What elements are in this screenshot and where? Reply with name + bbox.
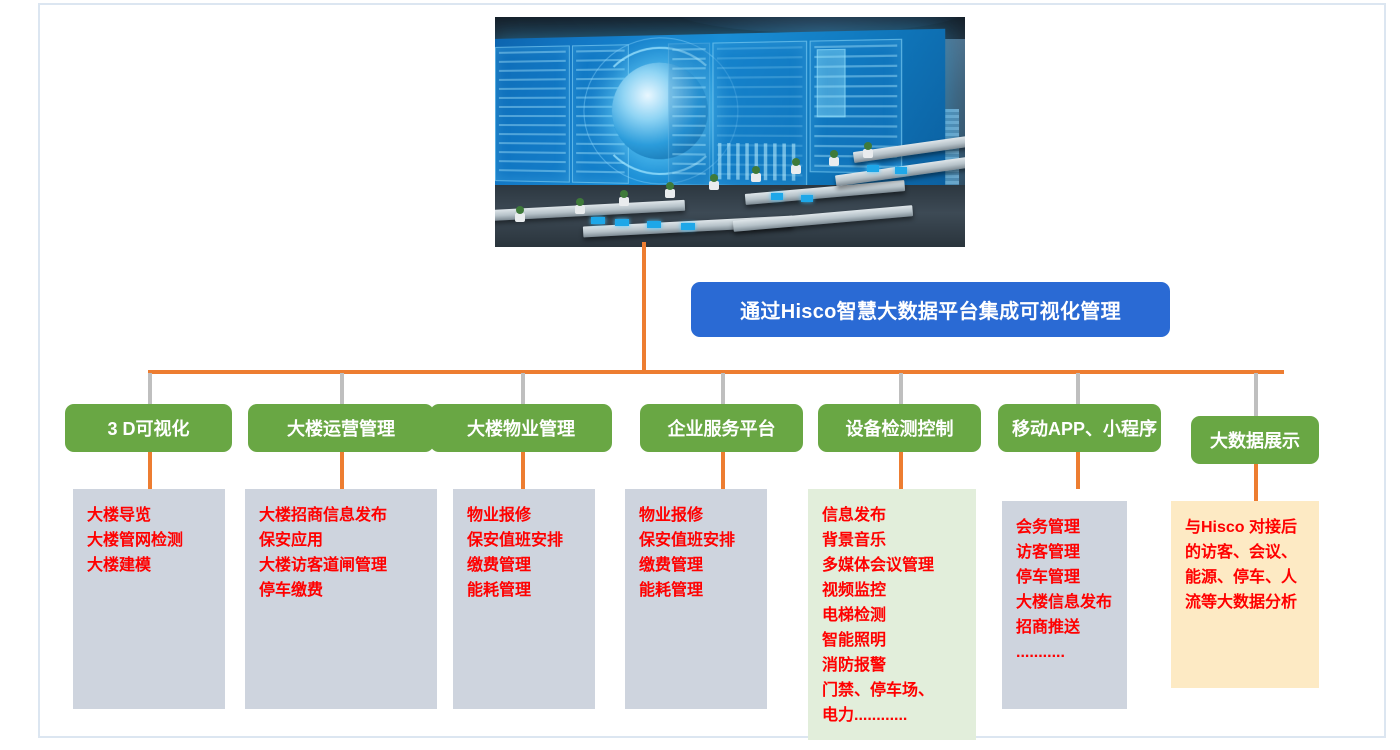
hero-plant [665,189,675,198]
panel-item: 保安应用 [259,528,437,553]
panel-item: 大楼信息发布 [1016,590,1127,615]
hero-plant [515,213,525,222]
chip-label: 大楼运营管理 [287,415,395,441]
panel-enterprise-service: 物业报修 保安值班安排 缴费管理 能耗管理 [625,489,767,709]
panel-item: 停车缴费 [259,578,437,603]
panel-item: 电力............ [822,703,976,728]
chip-label: 设备检测控制 [846,415,954,441]
panel-item: 会务管理 [1016,515,1127,540]
panel-item: 流等大数据分析 [1185,590,1319,615]
hero-screen-panel [817,49,846,118]
main-banner[interactable]: 通过Hisco智慧大数据平台集成可视化管理 [691,282,1170,337]
connector-chip-to-panel-6 [1254,461,1258,501]
connector-chip-to-panel-5 [1076,449,1080,489]
panel-device-control: 信息发布 背景音乐 多媒体会议管理 视频监控 电梯检测 智能照明 消防报警 门禁… [808,489,976,740]
hero-plant [863,149,873,158]
category-chip-3d-visualization[interactable]: 3 D可视化 [65,404,232,452]
control-room-photo [495,17,965,247]
panel-property-management: 物业报修 保安值班安排 缴费管理 能耗管理 [453,489,595,709]
hero-plant [619,197,629,206]
panel-item: 门禁、停车场、 [822,678,976,703]
panel-item: 大楼管网检测 [87,528,225,553]
connector-chip-to-panel-2 [521,449,525,489]
panel-item: 大楼招商信息发布 [259,503,437,528]
hero-plant [709,181,719,190]
category-chip-mobile-app[interactable]: 移动APP、小程序 [998,404,1161,452]
panel-item: 大楼导览 [87,503,225,528]
main-banner-label: 通过Hisco智慧大数据平台集成可视化管理 [740,295,1121,324]
chip-label: 企业服务平台 [668,415,776,441]
panel-item: 大楼访客道闸管理 [259,553,437,578]
panel-item: 大楼建模 [87,553,225,578]
connector-chip-to-panel-3 [721,449,725,489]
category-chip-device-control[interactable]: 设备检测控制 [818,404,981,452]
chip-label: 移动APP、小程序 [1012,415,1157,441]
panel-item: 保安值班安排 [639,528,767,553]
panel-item: 缴费管理 [639,553,767,578]
hero-monitor [591,217,605,224]
panel-item: 访客管理 [1016,540,1127,565]
panel-item: 与Hisco 对接后 [1185,515,1319,540]
panel-building-operation: 大楼招商信息发布 保安应用 大楼访客道闸管理 停车缴费 [245,489,437,709]
panel-bigdata-display: 与Hisco 对接后 的访客、会议、 能源、停车、人 流等大数据分析 [1171,501,1319,688]
hero-monitor [615,219,629,226]
hero-monitor [771,193,783,200]
hero-plant [829,157,839,166]
panel-item: 停车管理 [1016,565,1127,590]
panel-item: 能源、停车、人 [1185,565,1319,590]
panel-item: 保安值班安排 [467,528,595,553]
panel-item: 能耗管理 [639,578,767,603]
panel-item: 消防报警 [822,653,976,678]
panel-3d-visualization: 大楼导览 大楼管网检测 大楼建模 [73,489,225,709]
hero-plant [751,173,761,182]
panel-item: 的访客、会议、 [1185,540,1319,565]
panel-mobile-app: 会务管理 访客管理 停车管理 大楼信息发布 招商推送 ........... [1002,501,1127,709]
panel-item: 电梯检测 [822,603,976,628]
connector-chip-to-panel-0 [148,449,152,489]
hero-screen-panel [495,45,570,182]
panel-item: 背景音乐 [822,528,976,553]
hero-monitor [647,221,661,228]
connector-chip-to-panel-4 [899,449,903,489]
connector-chip-to-panel-1 [340,449,344,489]
chip-label: 3 D可视化 [107,415,189,441]
connector-horizontal-bus [148,370,1284,374]
panel-item: 招商推送 [1016,615,1127,640]
hero-screen-panel [668,43,710,186]
panel-item: ........... [1016,640,1127,665]
hero-monitor [867,165,879,172]
category-chip-building-operation[interactable]: 大楼运营管理 [248,404,434,452]
chip-label: 大数据展示 [1210,427,1300,453]
connector-drop-6 [1254,373,1258,421]
hero-plant [791,165,801,174]
hero-monitor [895,167,907,174]
hero-plant [575,205,585,214]
panel-item: 视频监控 [822,578,976,603]
category-chip-bigdata-display[interactable]: 大数据展示 [1191,416,1319,464]
panel-item: 物业报修 [639,503,767,528]
chip-label: 大楼物业管理 [467,415,575,441]
panel-item: 物业报修 [467,503,595,528]
category-chip-property-management[interactable]: 大楼物业管理 [430,404,612,452]
panel-item: 智能照明 [822,628,976,653]
connector-hero-to-banner [642,242,646,370]
panel-item: 能耗管理 [467,578,595,603]
slide-canvas: 通过Hisco智慧大数据平台集成可视化管理 3 D可视化 大楼运营管理 大楼物业… [38,3,1386,738]
hero-monitor [681,223,695,230]
hero-monitor [801,195,813,202]
panel-item: 多媒体会议管理 [822,553,976,578]
category-chip-enterprise-service[interactable]: 企业服务平台 [640,404,803,452]
panel-item: 缴费管理 [467,553,595,578]
panel-item: 信息发布 [822,503,976,528]
